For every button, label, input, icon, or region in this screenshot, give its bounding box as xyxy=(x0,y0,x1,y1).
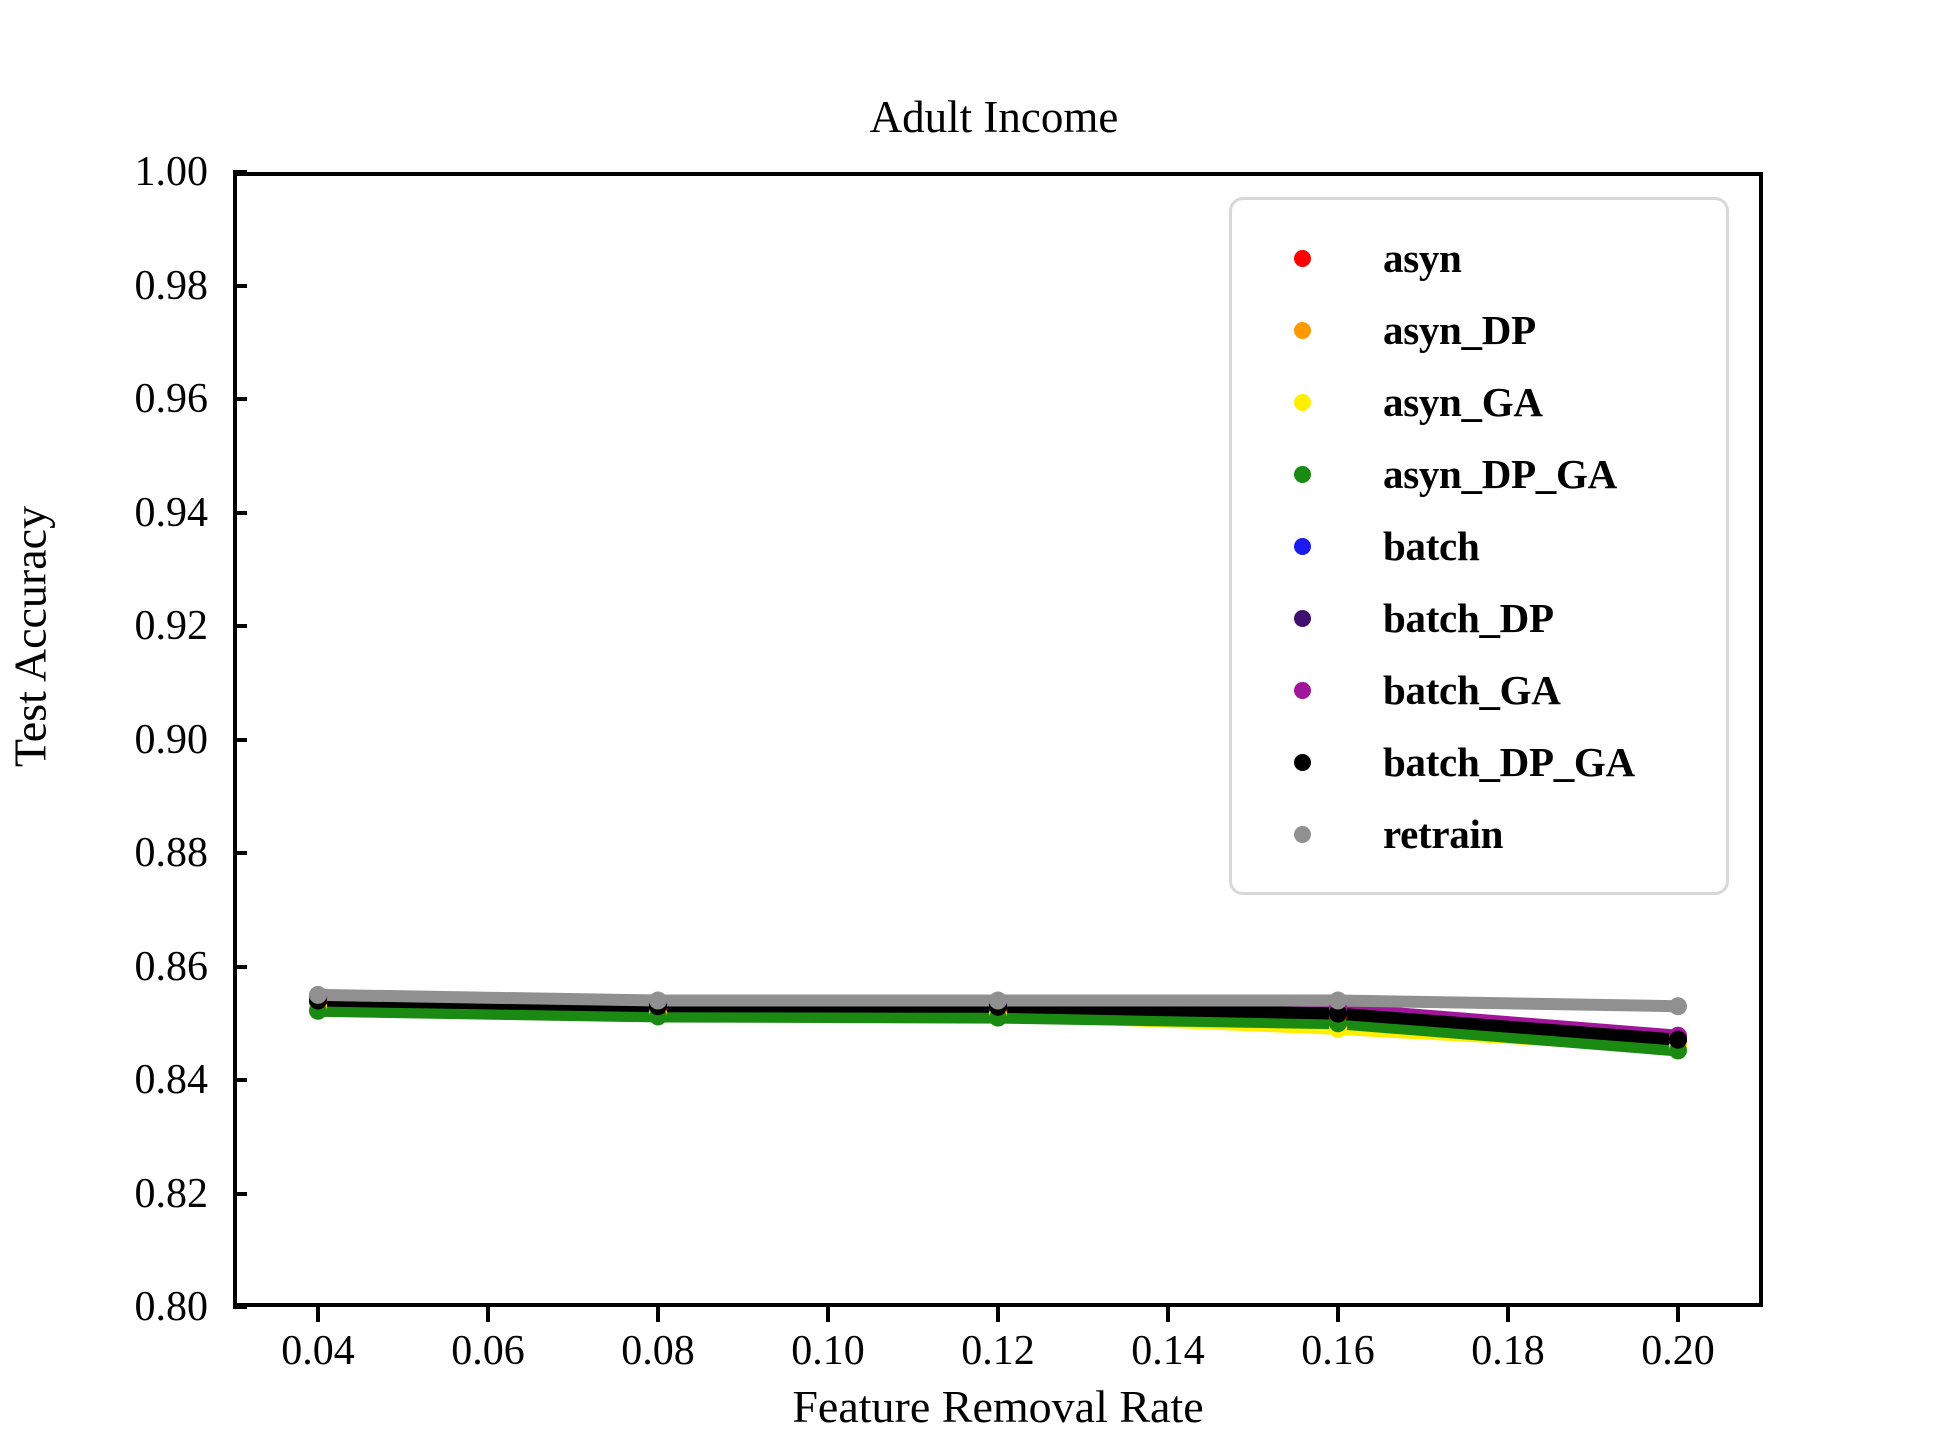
legend-marker-icon xyxy=(1294,250,1311,267)
x-tick-label: 0.14 xyxy=(1131,1327,1205,1375)
data-point-marker xyxy=(1329,992,1347,1010)
legend-item[interactable]: asyn_GA xyxy=(1232,366,1726,438)
x-tick-label: 0.12 xyxy=(961,1327,1035,1375)
legend-marker-icon xyxy=(1294,322,1311,339)
legend-item-label: batch_DP xyxy=(1383,594,1554,642)
y-tick-label: 0.98 xyxy=(135,262,209,310)
x-tick-label: 0.20 xyxy=(1641,1327,1715,1375)
legend-item-label: asyn_GA xyxy=(1383,378,1543,426)
legend-item-label: asyn_DP xyxy=(1383,306,1536,354)
x-tick-mark xyxy=(316,1307,320,1322)
y-tick-label: 0.82 xyxy=(135,1170,209,1218)
x-tick-label: 0.04 xyxy=(281,1327,355,1375)
x-tick-label: 0.16 xyxy=(1301,1327,1375,1375)
legend-item[interactable]: batch_GA xyxy=(1232,654,1726,726)
x-tick-mark xyxy=(1506,1307,1510,1322)
legend-item[interactable]: batch_DP_GA xyxy=(1232,726,1726,798)
x-tick-mark xyxy=(486,1307,490,1322)
legend-item[interactable]: asyn_DP_GA xyxy=(1232,438,1726,510)
x-tick-label: 0.18 xyxy=(1471,1327,1545,1375)
legend-item-label: retrain xyxy=(1383,810,1503,858)
page-title: Adult Income xyxy=(225,95,1763,140)
x-tick-mark xyxy=(656,1307,660,1322)
x-tick-label: 0.08 xyxy=(621,1327,695,1375)
x-tick-mark xyxy=(1166,1307,1170,1322)
data-point-marker xyxy=(1669,1031,1687,1049)
x-tick-mark xyxy=(1676,1307,1680,1322)
y-tick-label: 0.84 xyxy=(135,1056,209,1104)
y-tick-label: 0.90 xyxy=(135,716,209,764)
legend-item-label: batch xyxy=(1383,522,1479,570)
x-tick-mark xyxy=(826,1307,830,1322)
legend-item[interactable]: retrain xyxy=(1232,798,1726,870)
y-tick-label: 0.94 xyxy=(135,489,209,537)
legend-item-label: asyn_DP_GA xyxy=(1383,450,1617,498)
legend-item-label: batch_GA xyxy=(1383,666,1561,714)
chart-legend: asynasyn_DPasyn_GAasyn_DP_GAbatchbatch_D… xyxy=(1229,197,1729,895)
legend-item[interactable]: batch xyxy=(1232,510,1726,582)
x-tick-label: 0.10 xyxy=(791,1327,865,1375)
data-point-marker xyxy=(1669,997,1687,1015)
y-tick-label: 0.92 xyxy=(135,602,209,650)
legend-item-label: asyn xyxy=(1383,234,1462,282)
legend-marker-icon xyxy=(1294,610,1311,627)
legend-marker-icon xyxy=(1294,394,1311,411)
y-axis-title: Test Accuracy xyxy=(4,317,57,957)
data-point-marker xyxy=(989,992,1007,1010)
data-point-marker xyxy=(309,986,327,1004)
legend-marker-icon xyxy=(1294,826,1311,843)
x-tick-label: 0.06 xyxy=(451,1327,525,1375)
data-point-marker xyxy=(649,992,667,1010)
legend-item[interactable]: asyn_DP xyxy=(1232,294,1726,366)
y-tick-label: 0.88 xyxy=(135,829,209,877)
legend-item[interactable]: batch_DP xyxy=(1232,582,1726,654)
x-tick-mark xyxy=(1336,1307,1340,1322)
legend-item-label: batch_DP_GA xyxy=(1383,738,1635,786)
legend-marker-icon xyxy=(1294,754,1311,771)
x-axis-title: Feature Removal Rate xyxy=(233,1380,1763,1433)
y-tick-label: 0.96 xyxy=(135,375,209,423)
chart-figure: Adult Income Test Accuracy Feature Remov… xyxy=(0,0,1937,1453)
legend-marker-icon xyxy=(1294,682,1311,699)
legend-marker-icon xyxy=(1294,538,1311,555)
y-tick-label: 0.80 xyxy=(135,1283,209,1331)
legend-item[interactable]: asyn xyxy=(1232,222,1726,294)
x-tick-mark xyxy=(996,1307,1000,1322)
y-tick-label: 1.00 xyxy=(135,148,209,196)
y-tick-label: 0.86 xyxy=(135,943,209,991)
legend-marker-icon xyxy=(1294,466,1311,483)
